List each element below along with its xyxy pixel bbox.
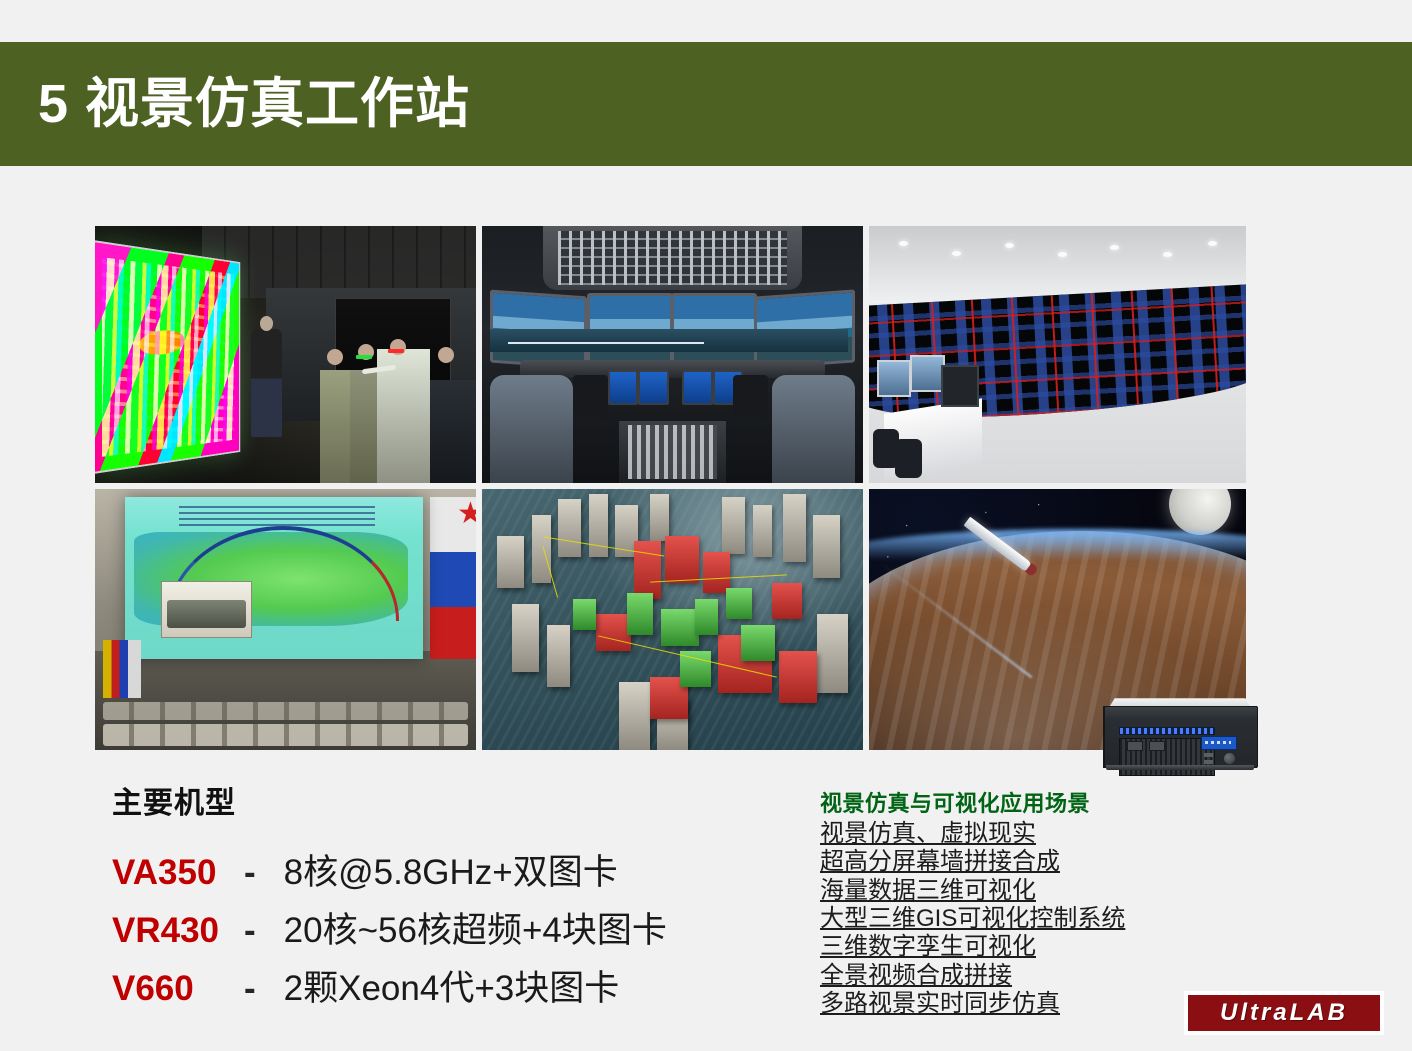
overhead-panel bbox=[543, 226, 802, 290]
audience-row-back bbox=[103, 702, 469, 720]
projection-screen bbox=[95, 240, 240, 474]
model-row: VA350- 8核@5.8GHz+双图卡 bbox=[112, 844, 752, 895]
model-row: V660- 2颗Xeon4代+3块图卡 bbox=[112, 960, 752, 1011]
slide-root: 5 视景仿真工作站 bbox=[0, 0, 1412, 1051]
list-item: 海量数据三维可视化 bbox=[820, 877, 1036, 905]
3d-glasses-red bbox=[388, 349, 404, 353]
operator-monitor-2 bbox=[910, 355, 944, 392]
operator-monitor-1 bbox=[877, 360, 911, 397]
seated-person-4 bbox=[430, 380, 476, 483]
gallery-image-flight-simulator-cockpit bbox=[482, 226, 863, 483]
main-models-block: 主要机型 VA350- 8核@5.8GHz+双图卡 VR430- 20核~56核… bbox=[112, 778, 752, 1018]
situation-map-screen bbox=[125, 497, 422, 659]
model-name: VA350 bbox=[112, 853, 244, 893]
slide-title-bar: 5 视景仿真工作站 bbox=[0, 42, 1412, 166]
briefing-hall-floor bbox=[95, 651, 476, 750]
display-pfd-right bbox=[682, 370, 713, 405]
audience-row-front bbox=[103, 724, 469, 746]
list-item: 三维数字孪生可视化 bbox=[820, 933, 1036, 961]
map-title-text-block bbox=[179, 505, 375, 526]
control-yoke-left bbox=[573, 375, 607, 421]
server-front-face bbox=[1104, 706, 1258, 768]
operator-monitor-3 bbox=[941, 365, 979, 408]
server-button-1 bbox=[1204, 753, 1213, 757]
model-row: VR430- 20核~56核超频+4块图卡 bbox=[112, 902, 752, 953]
glareshield bbox=[520, 360, 825, 378]
server-button-2 bbox=[1204, 760, 1213, 764]
logo-plate: UltraLAB bbox=[1188, 995, 1380, 1031]
server-power-knob bbox=[1224, 753, 1235, 764]
head-4 bbox=[438, 347, 454, 363]
server-base-panel bbox=[1106, 765, 1254, 770]
application-scenes-heading: 视景仿真与可视化应用场景 bbox=[820, 786, 1150, 818]
model-name: V660 bbox=[112, 969, 244, 1009]
gallery-image-vr-visualization-room bbox=[95, 226, 476, 483]
ultralab-logo: UltraLAB bbox=[1184, 991, 1384, 1035]
standing-presenter bbox=[251, 329, 281, 437]
flag-row bbox=[103, 640, 141, 697]
main-models-heading: 主要机型 bbox=[112, 778, 752, 822]
list-item: 多路视景实时同步仿真 bbox=[820, 990, 1060, 1018]
gallery-image-curved-control-room-wall bbox=[869, 226, 1246, 483]
list-item: 大型三维GIS可视化控制系统 bbox=[820, 905, 1125, 933]
3d-glasses-green bbox=[356, 355, 372, 359]
application-scenes-block: 视景仿真与可视化应用场景 视景仿真、虚拟现实 超高分屏幕墙拼接合成 海量数据三维… bbox=[820, 786, 1150, 1018]
seated-person-1 bbox=[320, 370, 354, 483]
model-dash: - bbox=[244, 969, 256, 1009]
model-dash: - bbox=[244, 911, 256, 951]
map-inset-photo bbox=[161, 581, 252, 638]
model-spec: 2颗Xeon4代+3块图卡 bbox=[284, 960, 620, 1011]
center-pedestal bbox=[619, 421, 726, 483]
model-spec: 20核~56核超频+4块图卡 bbox=[284, 902, 667, 953]
rackmount-workstation-image bbox=[1104, 692, 1256, 770]
server-drive-bay-1 bbox=[1127, 741, 1143, 751]
list-item: 视景仿真、虚拟现实 bbox=[820, 820, 1036, 848]
logo-text: UltraLAB bbox=[1220, 999, 1348, 1027]
application-scenes-list: 视景仿真、虚拟现实 超高分屏幕墙拼接合成 海量数据三维可视化 大型三维GIS可视… bbox=[820, 820, 1150, 1018]
control-yoke-right bbox=[733, 375, 767, 421]
list-item: 全景视频合成拼接 bbox=[820, 962, 1012, 990]
model-spec: 8核@5.8GHz+双图卡 bbox=[284, 844, 618, 895]
display-nd-left bbox=[638, 370, 669, 405]
display-pfd-left bbox=[608, 370, 639, 405]
gallery-image-3d-gis-city-model bbox=[482, 489, 863, 750]
gallery-image-military-briefing-hall bbox=[95, 489, 476, 750]
server-led-strip bbox=[1119, 727, 1215, 735]
image-gallery-grid bbox=[95, 226, 1248, 750]
pilot-seat-right bbox=[772, 375, 856, 483]
runway-view bbox=[490, 329, 848, 352]
pilot-seat-left bbox=[490, 375, 574, 483]
server-drive-bay-2 bbox=[1149, 741, 1165, 751]
list-item: 超高分屏幕墙拼接合成 bbox=[820, 848, 1060, 876]
office-chair-2 bbox=[895, 439, 921, 478]
model-dash: - bbox=[244, 853, 256, 893]
highlight-blob bbox=[138, 328, 186, 358]
server-lcd-display bbox=[1201, 736, 1237, 750]
page-title: 5 视景仿真工作站 bbox=[38, 77, 470, 131]
model-name: VR430 bbox=[112, 911, 244, 951]
